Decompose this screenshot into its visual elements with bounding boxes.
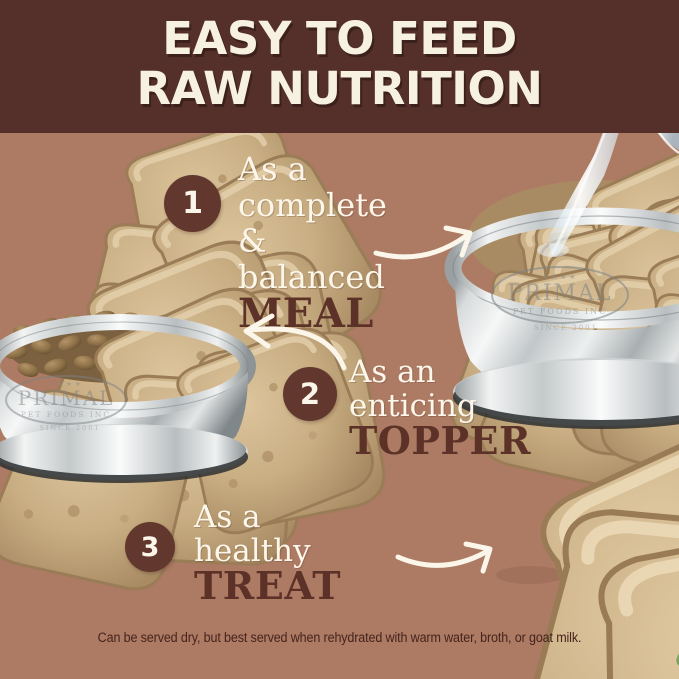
step-3-line2: TREAT — [194, 566, 341, 606]
curved-arrow-right-icon-3 — [398, 544, 490, 571]
step-1-line1: As a complete & balanced — [238, 151, 387, 295]
step-3-badge: 3 — [125, 522, 175, 572]
svg-text:SINCE 2001: SINCE 2001 — [39, 424, 100, 432]
curved-arrow-right-icon-1 — [376, 228, 470, 257]
svg-text:★★★★: ★★★★ — [48, 380, 83, 388]
svg-text:★★★★: ★★★★ — [541, 273, 578, 281]
footer-note: Can be served dry, but best served when … — [24, 630, 655, 645]
svg-text:PRIMAL: PRIMAL — [507, 281, 612, 306]
svg-text:SINCE 2001: SINCE 2001 — [534, 324, 598, 332]
svg-text:PET FOODS INC: PET FOODS INC — [21, 410, 111, 419]
page-title: EASY TO FEED RAW NUTRITION — [0, 14, 679, 114]
step-2-line1: As an enticing — [349, 355, 531, 423]
step-1-badge: 1 — [164, 175, 221, 232]
bowl-logo-left: PRIMAL PET FOODS INC ★★★★ — [6, 376, 126, 424]
step-2-text: As an enticing TOPPER — [349, 355, 531, 461]
poster-canvas: PRIMAL PET FOODS INC ★★★★ SINCE 2001 — [0, 0, 679, 679]
bowl-logo-top-right: PRIMAL PET FOODS INC ★★★★ — [492, 267, 628, 323]
svg-text:PRIMAL: PRIMAL — [18, 386, 115, 410]
step-2-line2: TOPPER — [349, 421, 531, 461]
step-1-text: As a complete & balanced MEAL — [238, 151, 387, 334]
svg-text:PET FOODS INC: PET FOODS INC — [513, 307, 608, 316]
header-banner: EASY TO FEED RAW NUTRITION — [0, 0, 679, 133]
step-1-line2: MEAL — [238, 294, 387, 334]
step-3-text: As a healthy TREAT — [194, 500, 341, 606]
step-3-line1: As a healthy — [194, 500, 341, 568]
step-2-badge: 2 — [283, 367, 337, 421]
